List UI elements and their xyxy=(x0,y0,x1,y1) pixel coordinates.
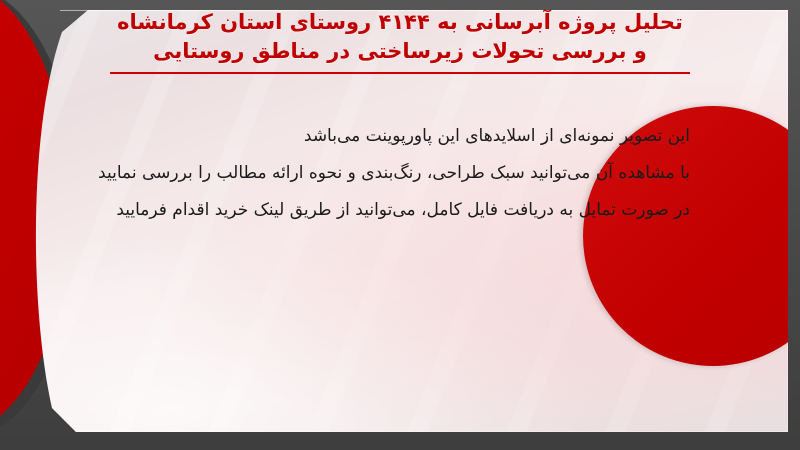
body-line-2: با مشاهده آن می‌توانید سبک طراحی، رنگ‌بن… xyxy=(98,155,690,192)
title-divider-rule xyxy=(110,72,690,74)
title-line-1: تحلیل پروژه آبرسانی به ۴۱۴۴ روستای استان… xyxy=(18,8,782,37)
slide-canvas: تحلیل پروژه آبرسانی به ۴۱۴۴ روستای استان… xyxy=(0,0,800,450)
body-line-1: این تصویر نمونه‌ای از اسلایدهای این پاور… xyxy=(98,118,690,155)
body-line-3: در صورت تمایل به دریافت فایل کامل، می‌تو… xyxy=(98,192,690,229)
slide-title: تحلیل پروژه آبرسانی به ۴۱۴۴ روستای استان… xyxy=(18,8,782,74)
title-line-2: و بررسی تحولات زیرساختی در مناطق روستایی xyxy=(18,37,782,66)
slide-body-text: این تصویر نمونه‌ای از اسلایدهای این پاور… xyxy=(98,118,690,229)
